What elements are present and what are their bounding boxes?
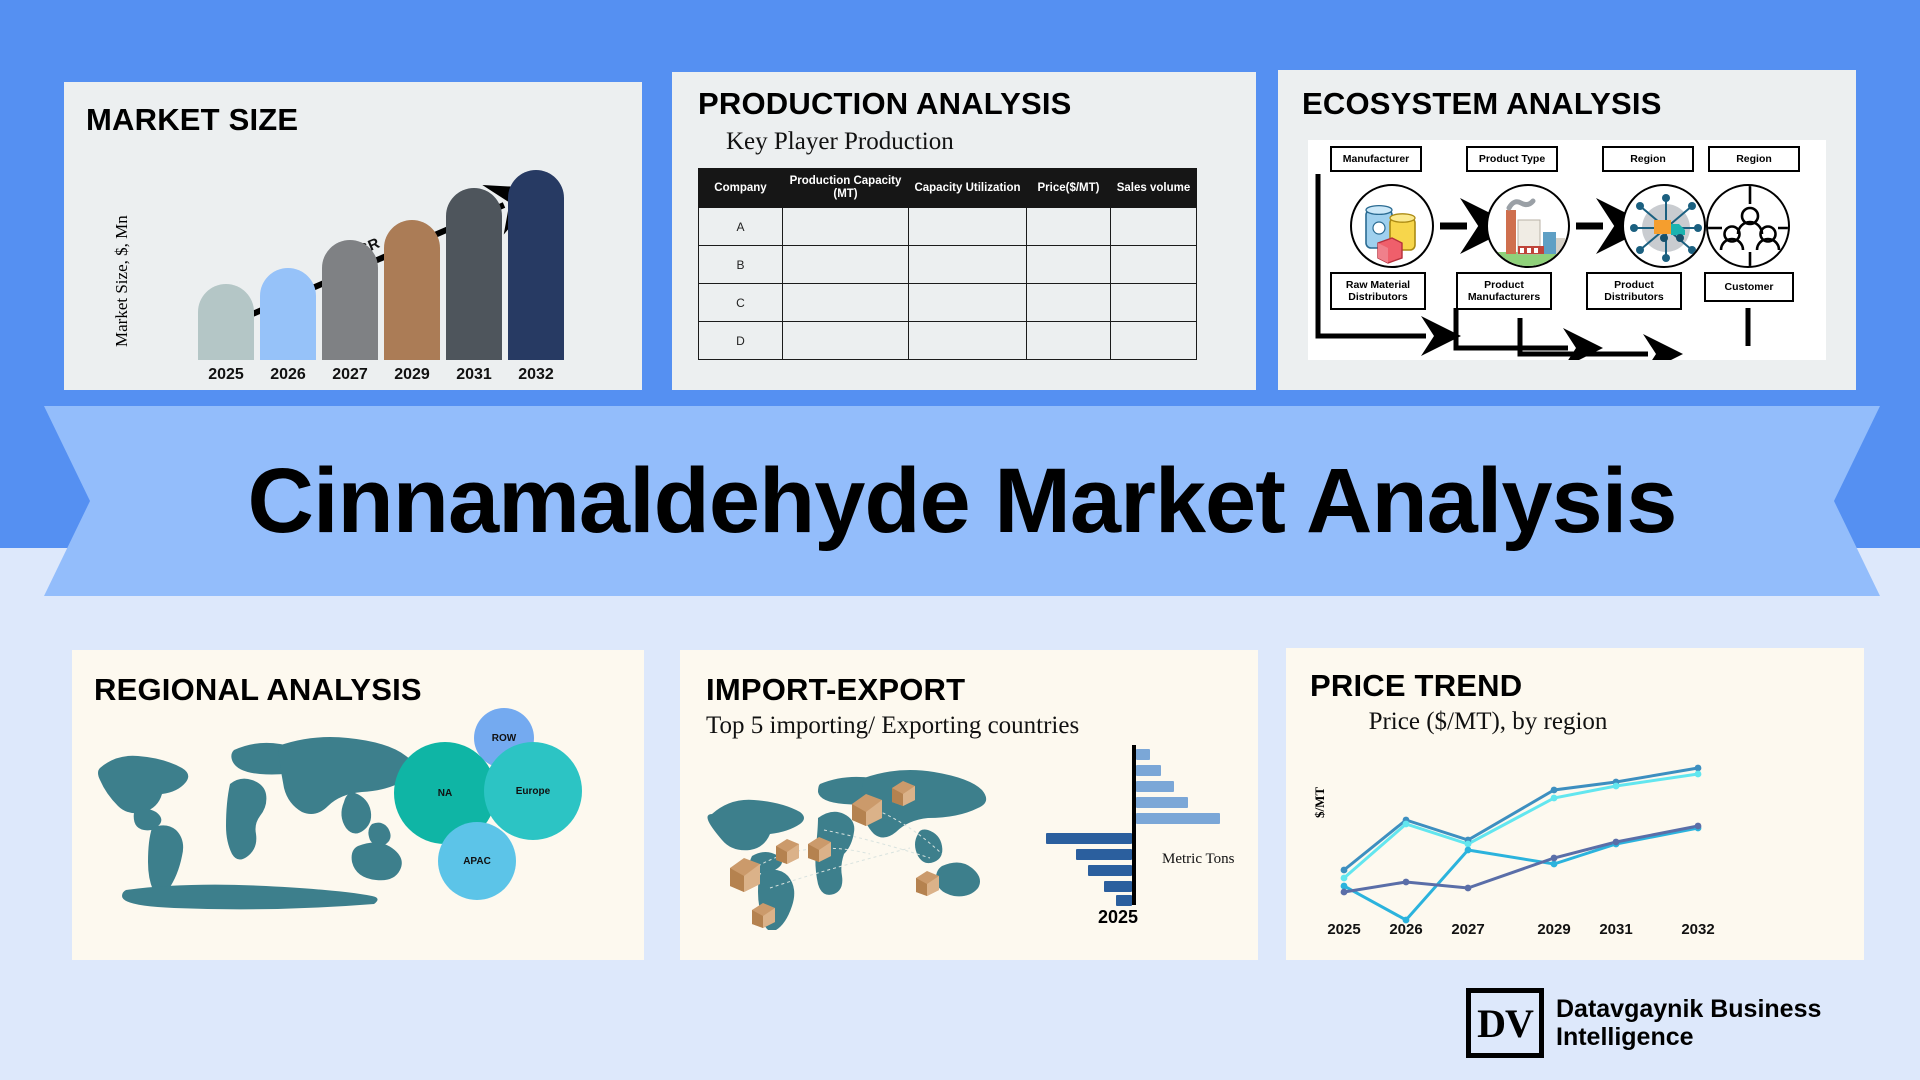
- cell-company: C: [699, 284, 783, 322]
- market-size-bar: [322, 240, 378, 360]
- eco-bottom-box-product-distributors: Product Distributors: [1586, 272, 1682, 310]
- production-analysis-card: PRODUCTION ANALYSIS Key Player Productio…: [672, 72, 1256, 390]
- price-trend-x-tick: 2031: [1588, 921, 1644, 938]
- market-size-x-tick: 2029: [384, 366, 440, 384]
- import-bar: [1136, 765, 1161, 776]
- table-row: A: [699, 208, 1197, 246]
- price-series-markers: [1341, 765, 1702, 924]
- cell-company: D: [699, 322, 783, 360]
- market-size-x-tick: 2032: [508, 366, 564, 384]
- trade-flow-map-icon: [700, 760, 1000, 930]
- market-size-chart: Market Size, $, Mn CAGR 2025 2026 2027 2…: [64, 142, 642, 390]
- cell-company: A: [699, 208, 783, 246]
- cell-capacity: [783, 322, 909, 360]
- column-header-sales: Sales volume: [1111, 169, 1197, 208]
- market-size-card: MARKET SIZE Market Size, $, Mn CAGR 2025…: [64, 82, 642, 390]
- company-logo: DV Datavgaynik Business Intelligence: [1466, 988, 1821, 1058]
- market-size-x-tick: 2025: [198, 366, 254, 384]
- column-header-utilization: Capacity Utilization: [909, 169, 1027, 208]
- cell-capacity: [783, 246, 909, 284]
- column-header-capacity: Production Capacity (MT): [783, 169, 909, 208]
- barrels-icon: [1350, 184, 1434, 268]
- cell-price: [1027, 208, 1111, 246]
- table-row: D: [699, 322, 1197, 360]
- page-title: Cinnamaldehyde Market Analysis: [248, 449, 1677, 554]
- table-row: B: [699, 246, 1197, 284]
- price-trend-x-tick: 2026: [1378, 921, 1434, 938]
- cell-company: B: [699, 246, 783, 284]
- export-bar: [1116, 895, 1132, 906]
- import-export-tornado-chart: Metric Tons 2025: [1010, 745, 1240, 945]
- market-size-bar: [384, 220, 440, 360]
- price-trend-card: PRICE TREND Price ($/MT), by region $/MT…: [1286, 648, 1864, 960]
- market-size-bar: [260, 268, 316, 360]
- import-bar: [1136, 797, 1188, 808]
- distribution-network-icon: [1622, 184, 1706, 268]
- cell-utilization: [909, 246, 1027, 284]
- price-trend-x-tick: 2027: [1440, 921, 1496, 938]
- eco-bottom-box-customer: Customer: [1704, 272, 1794, 302]
- price-trend-x-tick: 2032: [1670, 921, 1726, 938]
- price-series-line: [1344, 828, 1698, 920]
- column-header-company: Company: [699, 169, 783, 208]
- market-size-title: MARKET SIZE: [86, 102, 298, 138]
- tornado-year-label: 2025: [1098, 907, 1138, 928]
- market-size-x-tick: 2031: [446, 366, 502, 384]
- import-export-card: IMPORT-EXPORT Top 5 importing/ Exporting…: [680, 650, 1258, 960]
- logo-mark-dv: DV: [1466, 988, 1544, 1058]
- ecosystem-analysis-title: ECOSYSTEM ANALYSIS: [1302, 86, 1662, 122]
- logo-text-line-1: Datavgaynik Business: [1556, 995, 1821, 1023]
- cell-price: [1027, 246, 1111, 284]
- regional-analysis-title: REGIONAL ANALYSIS: [94, 672, 422, 708]
- tornado-unit-label: Metric Tons: [1162, 851, 1234, 868]
- cell-price: [1027, 284, 1111, 322]
- import-export-title: IMPORT-EXPORT: [706, 672, 965, 708]
- customers-icon: [1706, 184, 1790, 268]
- ecosystem-analysis-card: ECOSYSTEM ANALYSIS Manufacturer Product …: [1278, 70, 1856, 390]
- main-title-banner: Cinnamaldehyde Market Analysis: [44, 406, 1880, 596]
- cell-utilization: [909, 284, 1027, 322]
- import-bar: [1136, 813, 1220, 824]
- eco-bottom-box-product-manufacturers: Product Manufacturers: [1456, 272, 1552, 310]
- world-map-icon: [82, 720, 432, 920]
- import-bar: [1136, 781, 1174, 792]
- table-row: C: [699, 284, 1197, 322]
- eco-bottom-box-raw-material-distributors: Raw Material Distributors: [1330, 272, 1426, 310]
- eco-top-box-region-2: Region: [1708, 146, 1800, 172]
- ecosystem-diagram: Manufacturer Product Type Region Region: [1308, 140, 1826, 360]
- import-export-subtitle: Top 5 importing/ Exporting countries: [706, 712, 1079, 740]
- regional-analysis-card: REGIONAL ANALYSIS ROW NA Europe APAC: [72, 650, 644, 960]
- column-header-price: Price($/MT): [1027, 169, 1111, 208]
- export-bar: [1076, 849, 1132, 860]
- market-size-x-tick: 2027: [322, 366, 378, 384]
- eco-top-box-manufacturer: Manufacturer: [1330, 146, 1422, 172]
- table-header-row: Company Production Capacity (MT) Capacit…: [699, 169, 1197, 208]
- key-player-production-table: Company Production Capacity (MT) Capacit…: [698, 168, 1197, 360]
- export-bar: [1046, 833, 1132, 844]
- cell-utilization: [909, 322, 1027, 360]
- logo-text-line-2: Intelligence: [1556, 1023, 1821, 1051]
- cell-capacity: [783, 208, 909, 246]
- price-series-line: [1344, 768, 1698, 870]
- market-size-bar: [198, 284, 254, 360]
- logo-text: Datavgaynik Business Intelligence: [1556, 995, 1821, 1051]
- factory-icon: [1486, 184, 1570, 268]
- price-trend-x-tick: 2025: [1316, 921, 1372, 938]
- cell-sales: [1111, 246, 1197, 284]
- export-bar: [1088, 865, 1132, 876]
- cell-capacity: [783, 284, 909, 322]
- market-size-x-tick: 2026: [260, 366, 316, 384]
- import-bar: [1136, 749, 1150, 760]
- cell-sales: [1111, 208, 1197, 246]
- eco-top-box-product-type: Product Type: [1466, 146, 1558, 172]
- cell-sales: [1111, 284, 1197, 322]
- eco-top-box-region-1: Region: [1602, 146, 1694, 172]
- cell-price: [1027, 322, 1111, 360]
- price-trend-chart: [1286, 648, 1864, 960]
- market-size-bar: [446, 188, 502, 360]
- export-bar: [1104, 881, 1132, 892]
- production-analysis-title: PRODUCTION ANALYSIS: [698, 86, 1072, 122]
- cell-utilization: [909, 208, 1027, 246]
- market-size-bar: [508, 170, 564, 360]
- production-analysis-subtitle: Key Player Production: [726, 128, 954, 156]
- price-trend-x-tick: 2029: [1526, 921, 1582, 938]
- cell-sales: [1111, 322, 1197, 360]
- region-bubble-europe: Europe: [484, 742, 582, 840]
- region-bubble-apac: APAC: [438, 822, 516, 900]
